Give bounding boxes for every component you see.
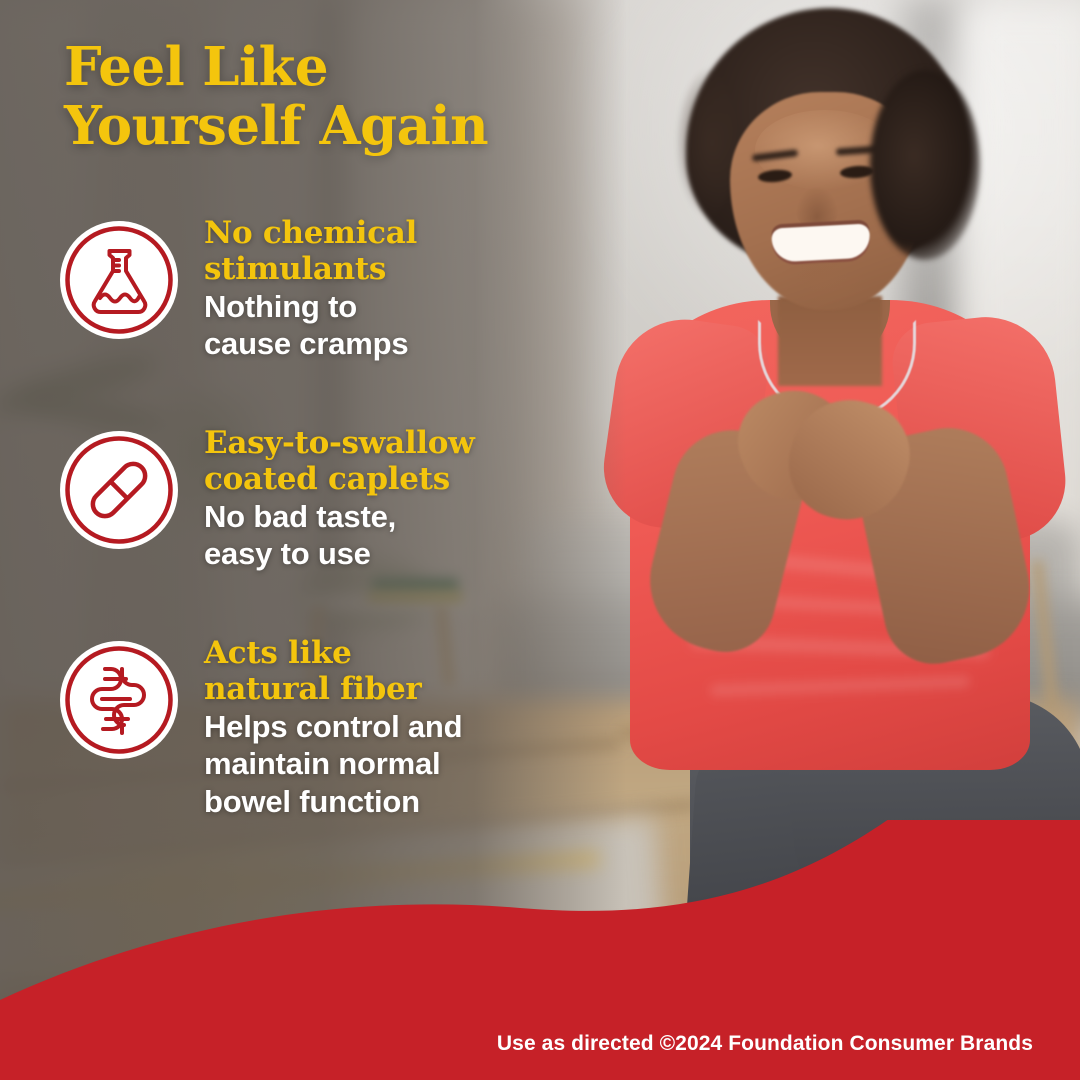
list-item: Acts like natural fiber Helps control an… bbox=[60, 635, 580, 855]
benefit-list: No chemical stimulants Nothing to cause … bbox=[60, 215, 580, 855]
benefit-body: Nothing to cause cramps bbox=[204, 288, 417, 364]
benefit-body: No bad taste, easy to use bbox=[204, 498, 475, 574]
advertisement-canvas: Feel Like Yourself Again bbox=[0, 0, 1080, 1080]
list-item: Easy-to-swallow coated caplets No bad ta… bbox=[60, 425, 580, 635]
ad-content: Feel Like Yourself Again bbox=[0, 0, 1080, 1080]
list-item: No chemical stimulants Nothing to cause … bbox=[60, 215, 580, 425]
legal-disclaimer: Use as directed ©2024 Foundation Consume… bbox=[497, 1032, 1033, 1056]
intestine-icon bbox=[60, 641, 178, 759]
benefit-heading: Acts like natural fiber bbox=[204, 635, 462, 708]
flask-icon bbox=[60, 221, 178, 339]
capsule-icon bbox=[60, 431, 178, 549]
page-title: Feel Like Yourself Again bbox=[64, 38, 704, 157]
benefit-heading: Easy-to-swallow coated caplets bbox=[204, 425, 475, 498]
benefit-text: Acts like natural fiber Helps control an… bbox=[204, 635, 462, 821]
benefit-body: Helps control and maintain normal bowel … bbox=[204, 708, 462, 821]
benefit-text: No chemical stimulants Nothing to cause … bbox=[204, 215, 417, 363]
benefit-heading: No chemical stimulants bbox=[204, 215, 417, 288]
benefit-text: Easy-to-swallow coated caplets No bad ta… bbox=[204, 425, 475, 573]
